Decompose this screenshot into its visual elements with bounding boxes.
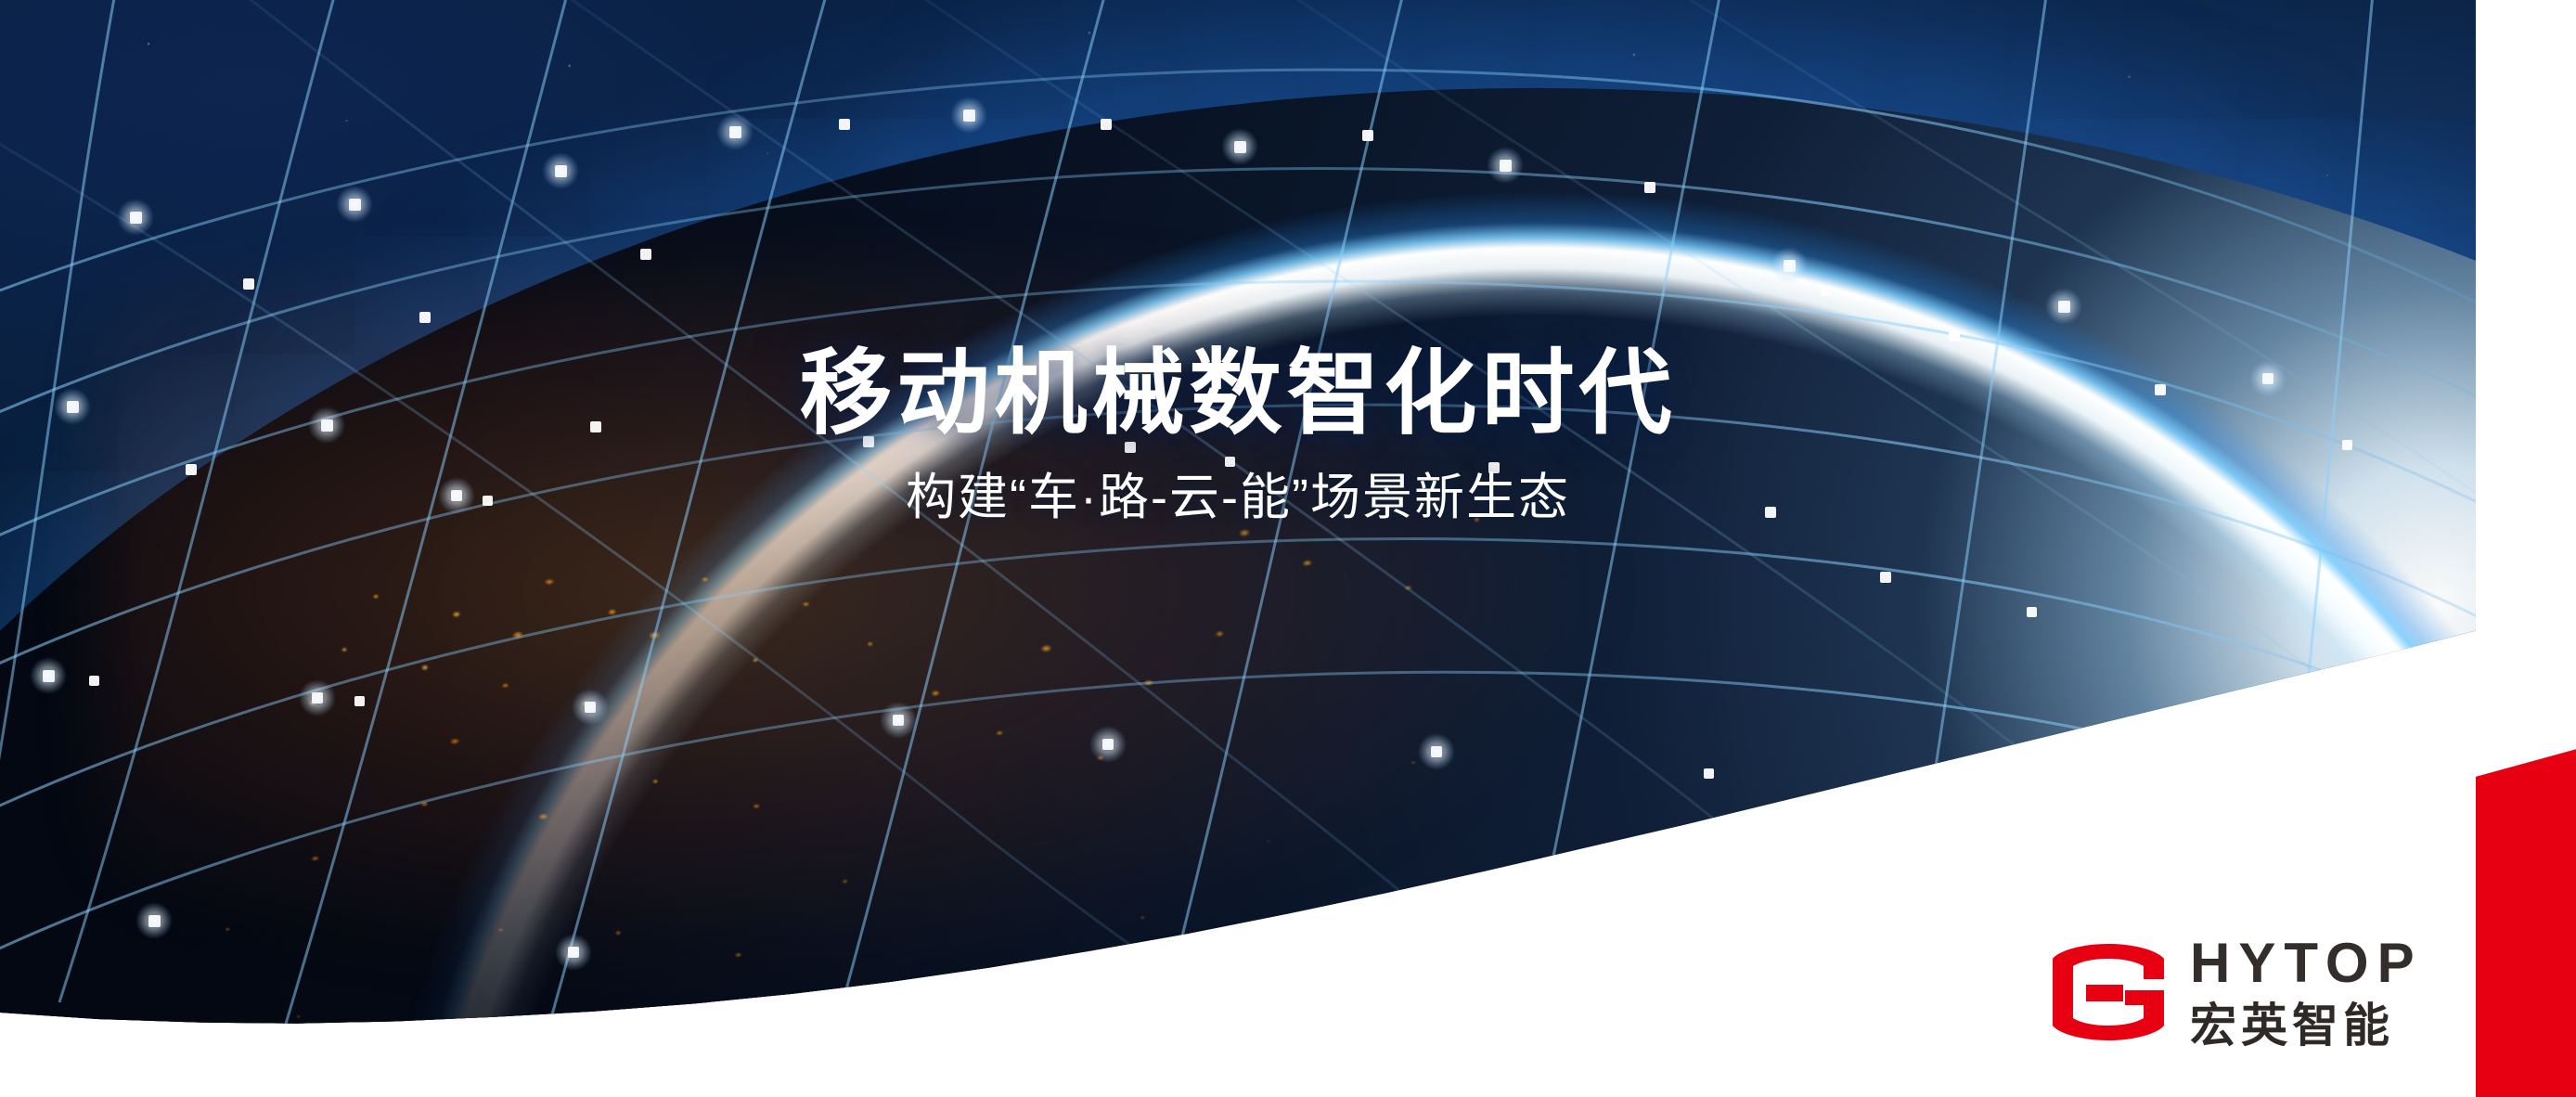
brand-red-corner-stripe bbox=[2476, 0, 2576, 1097]
brand-name-cn: 宏英智能 bbox=[2190, 1002, 2423, 1049]
earth-globe: 移动机械数智化时代 构建“车·路-云-能”场景新生态 bbox=[0, 0, 2476, 1097]
title-slide: 移动机械数智化时代 构建“车·路-云-能”场景新生态 HYTOP 宏英智能 bbox=[0, 0, 2576, 1097]
brand-name-en: HYTOP bbox=[2190, 936, 2423, 991]
page-subtitle: 构建“车·路-云-能”场景新生态 bbox=[0, 468, 2476, 528]
brand-logo: HYTOP 宏英智能 bbox=[2051, 936, 2423, 1049]
title-block: 移动机械数智化时代 构建“车·路-云-能”场景新生态 bbox=[0, 342, 2476, 528]
page-title: 移动机械数智化时代 bbox=[0, 342, 2476, 445]
hytop-logo-mark-icon bbox=[2051, 938, 2166, 1046]
brand-logo-text: HYTOP 宏英智能 bbox=[2190, 936, 2423, 1049]
